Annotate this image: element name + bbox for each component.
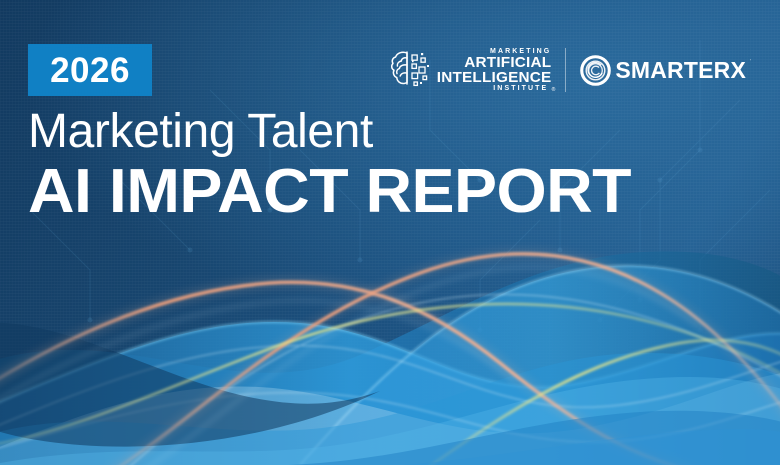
registered-trademark-icon: ® — [552, 88, 556, 93]
logo-lockup: MARKETING ARTIFICIAL INTELLIGENCE INSTIT… — [390, 41, 752, 99]
spiral-circle-icon — [580, 55, 611, 86]
logo-divider — [565, 48, 566, 92]
maii-line-intelligence: INTELLIGENCE — [437, 70, 552, 85]
trademark-icon: ˙ — [749, 60, 752, 67]
marketing-ai-institute-logo[interactable]: MARKETING ARTIFICIAL INTELLIGENCE INSTIT… — [390, 48, 551, 92]
report-subtitle: Marketing Talent — [28, 108, 608, 157]
year-badge-label: 2026 — [50, 53, 130, 88]
report-cover: 2026 Marketing Talent AI IMPACT REPORT — [0, 0, 780, 465]
smarterx-wordmark: SMARTERX˙ — [615, 59, 752, 82]
maii-line-artificial: ARTIFICIAL — [464, 55, 551, 70]
title-block: Marketing Talent AI IMPACT REPORT — [28, 108, 608, 224]
brain-pixels-icon — [390, 48, 432, 92]
abstract-wave-graphic — [0, 205, 780, 465]
report-title: AI IMPACT REPORT — [28, 159, 631, 224]
smarterx-text: SMARTERX — [615, 57, 746, 83]
maii-line-institute: INSTITUTE® — [493, 85, 551, 92]
maii-institute-text: INSTITUTE — [493, 85, 548, 92]
maii-wordmark: MARKETING ARTIFICIAL INTELLIGENCE INSTIT… — [439, 48, 551, 92]
year-badge: 2026 — [28, 44, 152, 96]
smarterx-logo[interactable]: SMARTERX˙ — [580, 55, 752, 86]
